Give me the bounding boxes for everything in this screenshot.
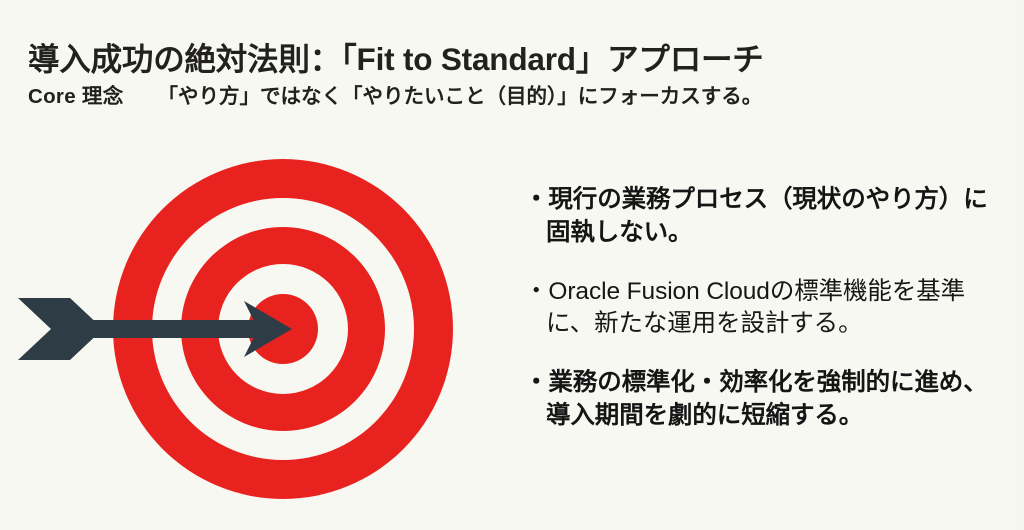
arrow-shaft [62,320,268,338]
right-edge-vignette [998,0,1024,530]
target-arrow-illustration [0,130,480,530]
bullet-marker: ・ [524,278,548,305]
core-principle-label: Core 理念 [28,85,124,108]
slide-canvas: 導入成功の絶対法則：「Fit to Standard」アプローチ Core 理念… [0,0,1024,530]
core-principle-text: 「やり方」ではなく「やりたいこと（目的）」にフォーカスする。 [158,85,763,108]
bullet-text: Oracle Fusion Cloudの標準機能を基準に、新たな運用を設計する。 [546,278,965,338]
bullet-list: ・現行の業務プロセス（現状のやり方）に固執しない。 ・Oracle Fusion… [524,184,994,433]
list-item: ・Oracle Fusion Cloudの標準機能を基準に、新たな運用を設計する… [524,276,994,342]
bullet-text: 業務の標準化・効率化を強制的に進め、導入期間を劇的に短縮する。 [546,369,988,429]
list-item: ・現行の業務プロセス（現状のやり方）に固執しない。 [524,184,994,250]
target-graphic [0,130,480,530]
bullet-marker: ・ [524,369,548,396]
bullet-marker: ・ [524,186,548,213]
bullet-text: 現行の業務プロセス（現状のやり方）に固執しない。 [546,186,988,246]
core-principle-line: Core 理念「やり方」ではなく「やりたいこと（目的）」にフォーカスする。 [28,79,762,109]
list-item: ・業務の標準化・効率化を強制的に進め、導入期間を劇的に短縮する。 [524,367,994,433]
page-title: 導入成功の絶対法則：「Fit to Standard」アプローチ [28,34,764,80]
